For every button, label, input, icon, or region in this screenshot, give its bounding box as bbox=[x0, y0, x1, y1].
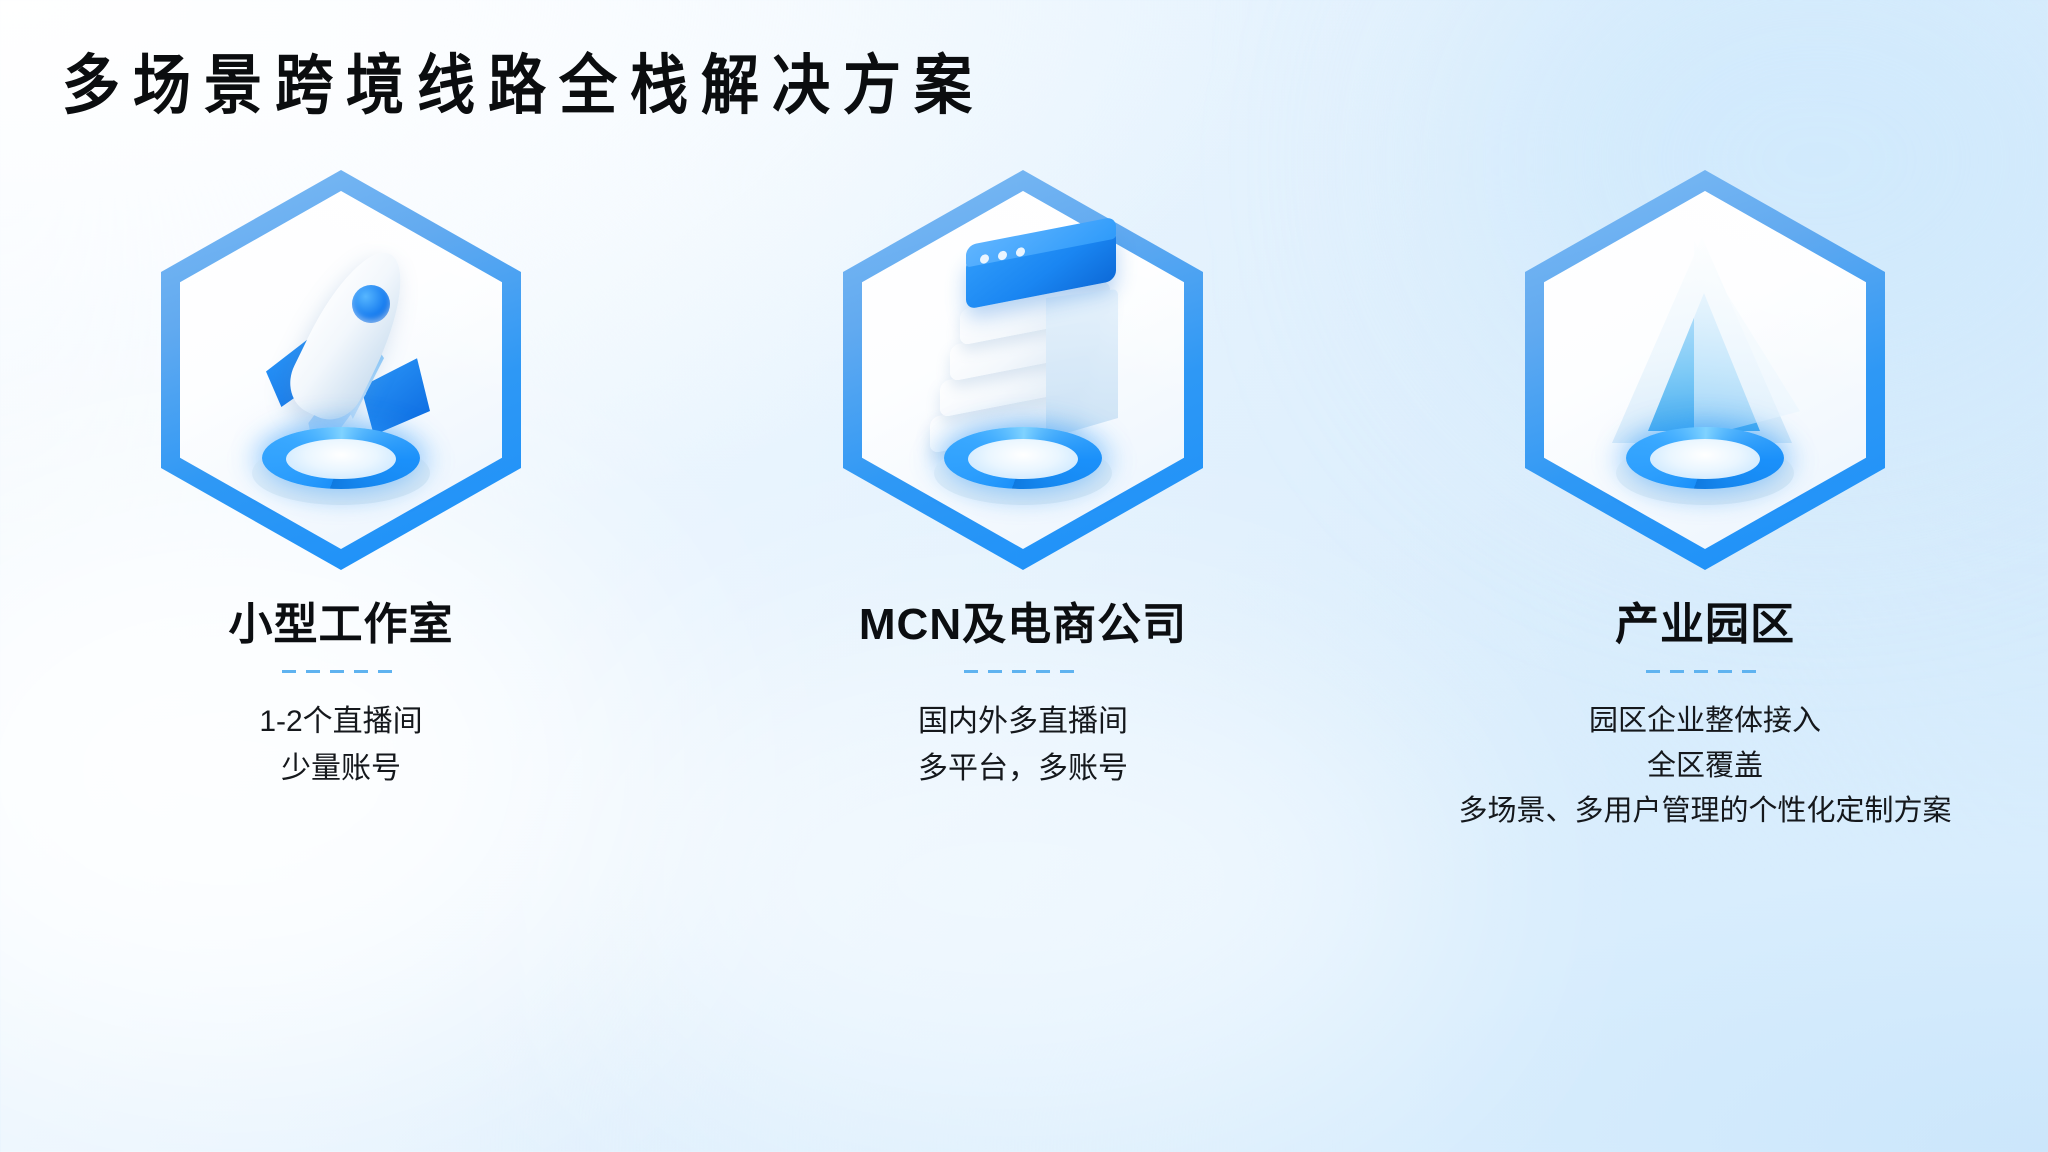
hexagon-badge-mcn bbox=[843, 170, 1203, 570]
card-divider bbox=[964, 670, 1082, 673]
card-title: MCN及电商公司 bbox=[859, 588, 1187, 652]
status-dot bbox=[980, 254, 989, 265]
card-description: 国内外多直播间 多平台，多账号 bbox=[918, 699, 1128, 792]
glow-disc-icon bbox=[246, 423, 436, 507]
solution-card-mcn[interactable]: MCN及电商公司 国内外多直播间 多平台，多账号 bbox=[682, 170, 1364, 834]
hexagon-badge-studio bbox=[161, 170, 521, 570]
hexagon-badge-park bbox=[1525, 170, 1885, 570]
rocket-icon bbox=[180, 191, 502, 549]
card-title: 小型工作室 bbox=[229, 588, 454, 652]
card-description-line: 多平台，多账号 bbox=[918, 746, 1128, 793]
card-divider bbox=[1646, 670, 1764, 673]
status-dot bbox=[1016, 247, 1025, 258]
status-dot bbox=[998, 250, 1007, 261]
rocket-window-icon bbox=[352, 285, 390, 323]
card-description-line: 全区覆盖 bbox=[1458, 744, 1951, 789]
card-title: 产业园区 bbox=[1615, 588, 1795, 652]
card-description-line: 国内外多直播间 bbox=[918, 699, 1128, 746]
card-divider bbox=[282, 670, 400, 673]
card-description-line: 1-2个直播间 bbox=[259, 699, 422, 746]
icon-stage bbox=[862, 191, 1184, 549]
glow-disc-icon bbox=[1610, 423, 1800, 507]
page-title: 多场景跨境线路全栈解决方案 bbox=[62, 48, 985, 125]
card-description-line: 园区企业整体接入 bbox=[1458, 699, 1951, 744]
card-description: 1-2个直播间 少量账号 bbox=[259, 699, 422, 792]
disc-ring-inner bbox=[1650, 439, 1760, 479]
solution-card-studio[interactable]: 小型工作室 1-2个直播间 少量账号 bbox=[0, 170, 682, 834]
icon-stage bbox=[1544, 191, 1866, 549]
disc-ring-inner bbox=[968, 439, 1078, 479]
solution-cards-row: 小型工作室 1-2个直播间 少量账号 bbox=[0, 170, 2048, 834]
glow-disc-icon bbox=[928, 423, 1118, 507]
card-description-line: 少量账号 bbox=[259, 746, 422, 793]
pyramid-icon bbox=[1544, 191, 1866, 549]
icon-stage bbox=[180, 191, 502, 549]
solution-card-industrial-park[interactable]: 产业园区 园区企业整体接入 全区覆盖 多场景、多用户管理的个性化定制方案 bbox=[1364, 170, 2046, 834]
server-stack-icon bbox=[862, 191, 1184, 549]
card-description: 园区企业整体接入 全区覆盖 多场景、多用户管理的个性化定制方案 bbox=[1458, 699, 1951, 834]
disc-ring-inner bbox=[286, 439, 396, 479]
card-description-line: 多场景、多用户管理的个性化定制方案 bbox=[1458, 789, 1951, 834]
